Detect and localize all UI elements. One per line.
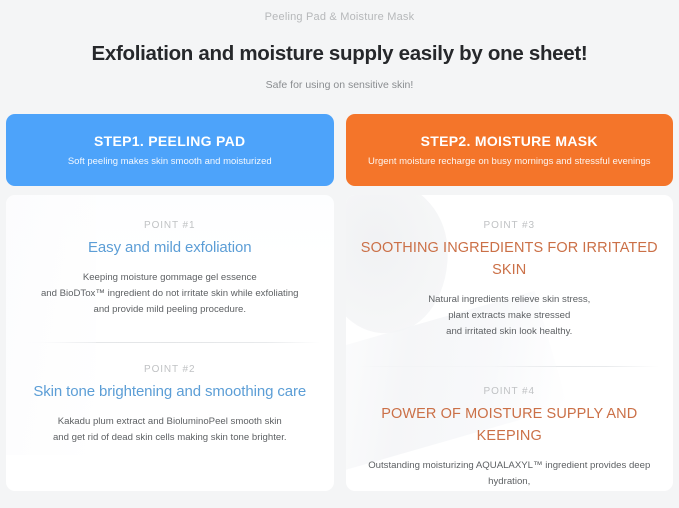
step1-points-card: POINT #1 Easy and mild exfoliation Keepi…	[6, 195, 334, 491]
point-3-label: POINT #3	[358, 219, 662, 233]
point-4-description: Outstanding moisturizing AQUALAXYL™ ingr…	[358, 458, 662, 491]
step2-points-card: POINT #3 SOOTHING INGREDIENTS FOR IRRITA…	[346, 195, 674, 491]
point-2-description: Kakadu plum extract and BioluminoPeel sm…	[18, 414, 322, 446]
point-block-2: POINT #2 Skin tone brightening and smoot…	[18, 363, 322, 448]
point-3-title: SOOTHING INGREDIENTS FOR IRRITATED SKIN	[358, 237, 662, 281]
step1-banner[interactable]: STEP1. PEELING PAD Soft peeling makes sk…	[6, 114, 334, 186]
point-3-desc-line: Natural ingredients relieve skin stress,	[358, 292, 662, 308]
point-1-desc-line: and provide mild peeling procedure.	[18, 302, 322, 318]
point-4-desc-line: Outstanding moisturizing AQUALAXYL™ ingr…	[358, 458, 662, 490]
point-1-desc-line: and BioDTox™ ingredient do not irritate …	[18, 286, 322, 302]
hero-subtitle: Safe for using on sensitive skin!	[0, 78, 679, 93]
point-1-description: Keeping moisture gommage gel essence and…	[18, 270, 322, 318]
point-block-1: POINT #1 Easy and mild exfoliation Keepi…	[18, 219, 322, 320]
step2-banner-subtitle: Urgent moisture recharge on busy morning…	[368, 155, 651, 168]
point-block-4: POINT #4 POWER OF MOISTURE SUPPLY AND KE…	[358, 385, 662, 491]
steps-columns: STEP1. PEELING PAD Soft peeling makes sk…	[0, 114, 679, 491]
point-1-label: POINT #1	[18, 219, 322, 233]
step1-banner-title: STEP1. PEELING PAD	[94, 132, 245, 150]
point-2-desc-line: and get rid of dead skin cells making sk…	[18, 430, 322, 446]
step1-banner-subtitle: Soft peeling makes skin smooth and moist…	[68, 155, 272, 168]
point-4-desc-line: Skin Fortifier Complex creates a protect…	[358, 490, 662, 491]
column-step1: STEP1. PEELING PAD Soft peeling makes sk…	[6, 114, 334, 491]
column-step2: STEP2. MOISTURE MASK Urgent moisture rec…	[346, 114, 674, 491]
point-2-title: Skin tone brightening and smoothing care	[18, 381, 322, 403]
product-detail-page: Peeling Pad & Moisture Mask Exfoliation …	[0, 0, 679, 508]
point-4-label: POINT #4	[358, 385, 662, 399]
hero-eyebrow: Peeling Pad & Moisture Mask	[0, 9, 679, 25]
point-2-desc-line: Kakadu plum extract and BioluminoPeel sm…	[18, 414, 322, 430]
point-1-desc-line: Keeping moisture gommage gel essence	[18, 270, 322, 286]
step2-banner-title: STEP2. MOISTURE MASK	[421, 132, 598, 150]
step2-banner[interactable]: STEP2. MOISTURE MASK Urgent moisture rec…	[346, 114, 674, 186]
point-3-desc-line: plant extracts make stressed	[358, 308, 662, 324]
point-2-label: POINT #2	[18, 363, 322, 377]
point-4-title: POWER OF MOISTURE SUPPLY AND KEEPING	[358, 403, 662, 447]
point-block-3: POINT #3 SOOTHING INGREDIENTS FOR IRRITA…	[358, 219, 662, 342]
hero-header: Peeling Pad & Moisture Mask Exfoliation …	[0, 0, 679, 93]
page-title: Exfoliation and moisture supply easily b…	[0, 41, 679, 67]
point-1-title: Easy and mild exfoliation	[18, 237, 322, 259]
point-3-desc-line: and irritated skin look healthy.	[358, 324, 662, 340]
point-3-description: Natural ingredients relieve skin stress,…	[358, 292, 662, 340]
